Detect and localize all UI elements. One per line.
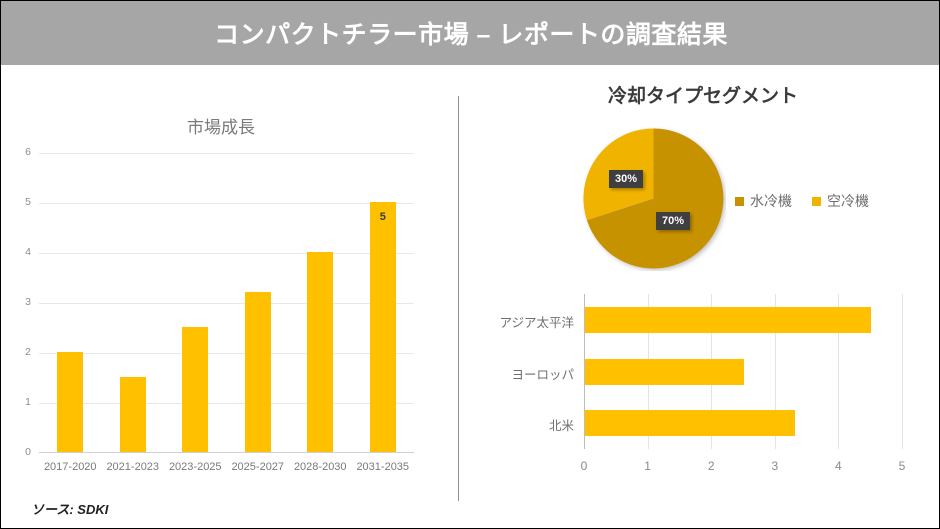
region-label: 北米 xyxy=(549,415,574,434)
x-tick-label: 2 xyxy=(708,459,715,473)
legend-item-water-cooled[interactable]: 水冷機 xyxy=(735,191,792,211)
y-tick-label: 0 xyxy=(5,446,31,458)
region-label: アジア太平洋 xyxy=(499,312,574,331)
legend-swatch-icon-water-cooled xyxy=(735,197,744,206)
x-category-label: 2028-2030 xyxy=(285,461,355,473)
x-category-label: 2025-2027 xyxy=(223,461,293,473)
cooling-type-legend: 水冷機 空冷機 xyxy=(735,191,869,211)
y-tick-label: 6 xyxy=(5,146,31,158)
legend-label-water-cooled: 水冷機 xyxy=(750,191,792,211)
column-bar xyxy=(182,327,208,452)
cooling-type-pie-chart: 冷却タイプセグメント 30% 70% xyxy=(463,73,940,273)
x-category-label: 2031-2035 xyxy=(348,461,418,473)
legend-label-air-cooled: 空冷機 xyxy=(827,191,869,211)
column-bar xyxy=(307,252,333,452)
y-tick-label: 5 xyxy=(5,196,31,208)
market-growth-chart: 市場成長 0123456 5 2017-20202021-20232023-20… xyxy=(1,101,451,491)
column-bar xyxy=(370,202,396,452)
horizontal-bar xyxy=(585,359,744,385)
gridline xyxy=(902,294,903,449)
section-divider xyxy=(458,96,459,501)
page-title: コンパクトチラー市場 – レポートの調査結果 xyxy=(214,15,728,51)
gridline xyxy=(39,253,414,254)
market-growth-x-axis-line xyxy=(39,452,414,453)
bar-value-label: 5 xyxy=(363,211,403,223)
cooling-type-title: 冷却タイプセグメント xyxy=(523,81,883,108)
region-label: ヨーロッパ xyxy=(511,364,574,383)
x-tick-label: 1 xyxy=(644,459,651,473)
header-banner: コンパクトチラー市場 – レポートの調査結果 xyxy=(1,1,940,65)
x-tick-label: 3 xyxy=(771,459,778,473)
gridline xyxy=(39,153,414,154)
pie-label-water-cooled: 70% xyxy=(656,212,690,230)
horizontal-bar xyxy=(585,307,871,333)
pie-svg xyxy=(581,126,726,271)
legend-item-air-cooled[interactable]: 空冷機 xyxy=(812,191,869,211)
gridline xyxy=(39,403,414,404)
y-tick-label: 4 xyxy=(5,246,31,258)
regional-plot-area xyxy=(584,294,902,449)
gridline xyxy=(39,303,414,304)
column-bar xyxy=(245,292,271,452)
x-tick-label: 4 xyxy=(835,459,842,473)
x-tick-label: 0 xyxy=(581,459,588,473)
y-tick-label: 2 xyxy=(5,346,31,358)
column-bar xyxy=(120,377,146,452)
x-category-label: 2017-2020 xyxy=(35,461,105,473)
source-note: ソース: SDKI xyxy=(31,499,108,518)
horizontal-bar xyxy=(585,410,795,436)
y-tick-label: 3 xyxy=(5,296,31,308)
legend-swatch-icon-air-cooled xyxy=(812,197,821,206)
regional-segment-chart: アジア太平洋ヨーロッパ北米 012345 xyxy=(463,286,940,491)
column-bar xyxy=(57,352,83,452)
x-category-label: 2021-2023 xyxy=(98,461,168,473)
market-growth-plot-area: 5 xyxy=(39,153,414,453)
cooling-type-pie-graphic: 30% 70% xyxy=(581,126,726,271)
gridline xyxy=(39,353,414,354)
pie-label-air-cooled: 30% xyxy=(609,170,643,188)
x-category-label: 2023-2025 xyxy=(160,461,230,473)
y-tick-label: 1 xyxy=(5,396,31,408)
gridline xyxy=(39,203,414,204)
x-tick-label: 5 xyxy=(899,459,906,473)
market-growth-title: 市場成長 xyxy=(1,113,441,138)
slide-canvas: コンパクトチラー市場 – レポートの調査結果 市場成長 0123456 5 20… xyxy=(0,0,940,529)
